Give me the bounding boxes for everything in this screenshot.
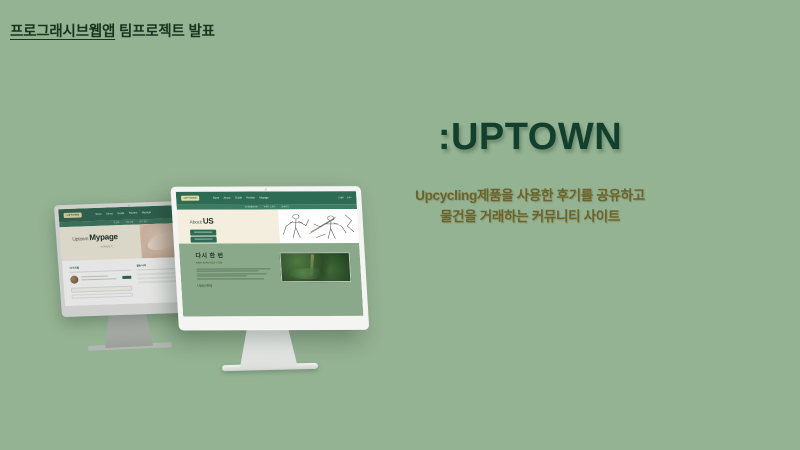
nav-item[interactable]: Guide	[117, 212, 124, 215]
green-foliage-photo	[280, 252, 352, 282]
login-link[interactable]: Login	[338, 196, 344, 199]
line-art-sketch-figures	[278, 209, 359, 243]
about-mission-subtitle: 버려진 물건에 새로운 가치를	[196, 260, 276, 264]
browse-products-button[interactable]	[190, 237, 216, 243]
about-hero-text: About US	[177, 209, 280, 243]
about-mission-paragraph	[196, 268, 277, 279]
about-hero-title-thin: About	[189, 220, 203, 226]
mypage-hero-title: Uptown Mypage	[72, 231, 140, 242]
webcam-icon	[265, 188, 267, 190]
site-logo-front[interactable]: :UPTOWN	[181, 196, 199, 201]
mypage-hero-text: Uptown Mypage 마이페이지	[59, 224, 141, 261]
site-nav-menu-back: Store About Guide Review Mypage	[95, 211, 151, 216]
about-hero: About US	[177, 209, 359, 244]
site-logo-back[interactable]: :UPTOWN	[63, 212, 81, 218]
mypage-profile-card-title: 내 프로필	[69, 263, 130, 269]
profile-secondary-panel[interactable]	[71, 292, 132, 298]
subnav-item[interactable]: 업사이클링이란	[245, 205, 258, 208]
mypage-hero-kicker: 마이페이지	[73, 243, 141, 249]
mypage-profile-card: 내 프로필	[69, 263, 133, 301]
monitor-front-screen: :UPTOWN Store About Guide Review Mypage …	[176, 191, 364, 316]
about-hero-buttons	[190, 229, 280, 242]
about-mission-media	[275, 250, 353, 317]
join-link[interactable]: Join	[347, 196, 352, 199]
monitor-front: :UPTOWN Store About Guide Review Mypage …	[170, 186, 369, 330]
subnav-item[interactable]: 내 정보	[113, 221, 119, 224]
nav-item[interactable]: Review	[246, 196, 255, 199]
brand-intro-button[interactable]	[190, 230, 216, 236]
about-hero-title: About US	[189, 216, 278, 225]
mypage-hero-title-bold: Mypage	[89, 232, 118, 242]
site-auth-links-front: Login Join	[338, 196, 351, 199]
about-site: :UPTOWN Store About Guide Review Mypage …	[176, 191, 364, 316]
nav-item[interactable]: Store	[213, 197, 219, 200]
subnav-item[interactable]: 브랜드 스토리	[264, 205, 276, 208]
about-mission-title: 다시 한 번	[195, 250, 276, 259]
about-mission-signature: Upcycling	[197, 283, 277, 287]
subnav-item[interactable]: 함께하기	[281, 205, 289, 208]
monitor-front-bezel: :UPTOWN Store About Guide Review Mypage …	[170, 186, 369, 330]
nav-item[interactable]: Guide	[235, 197, 242, 200]
nav-item[interactable]: About	[224, 197, 231, 200]
about-hero-title-bold: US	[203, 217, 214, 226]
profile-action-panel[interactable]	[71, 285, 132, 292]
profile-text-lines	[81, 275, 120, 281]
site-nav-menu-front: Store About Guide Review Mypage	[213, 196, 269, 199]
avatar	[70, 275, 79, 283]
nav-item[interactable]: Mypage	[259, 196, 268, 199]
about-mission-section: 다시 한 번 버려진 물건에 새로운 가치를 Upcycling	[179, 243, 364, 317]
site-nav-front: :UPTOWN Store About Guide Review Mypage …	[176, 191, 357, 205]
mypage-hero-title-thin: Uptown	[72, 236, 89, 243]
divider	[70, 269, 131, 272]
nav-item[interactable]: Review	[129, 211, 138, 214]
about-mission-text: 다시 한 번 버려진 물건에 새로운 가치를 Upcycling	[195, 250, 279, 317]
profile-row	[70, 273, 132, 283]
edit-profile-button[interactable]	[122, 276, 131, 279]
nav-item[interactable]: About	[106, 212, 113, 215]
device-mockup-group: :UPTOWN Store About Guide Review Mypage …	[0, 0, 800, 450]
nav-item[interactable]: Mypage	[142, 211, 151, 214]
nav-item[interactable]: Store	[95, 213, 101, 216]
